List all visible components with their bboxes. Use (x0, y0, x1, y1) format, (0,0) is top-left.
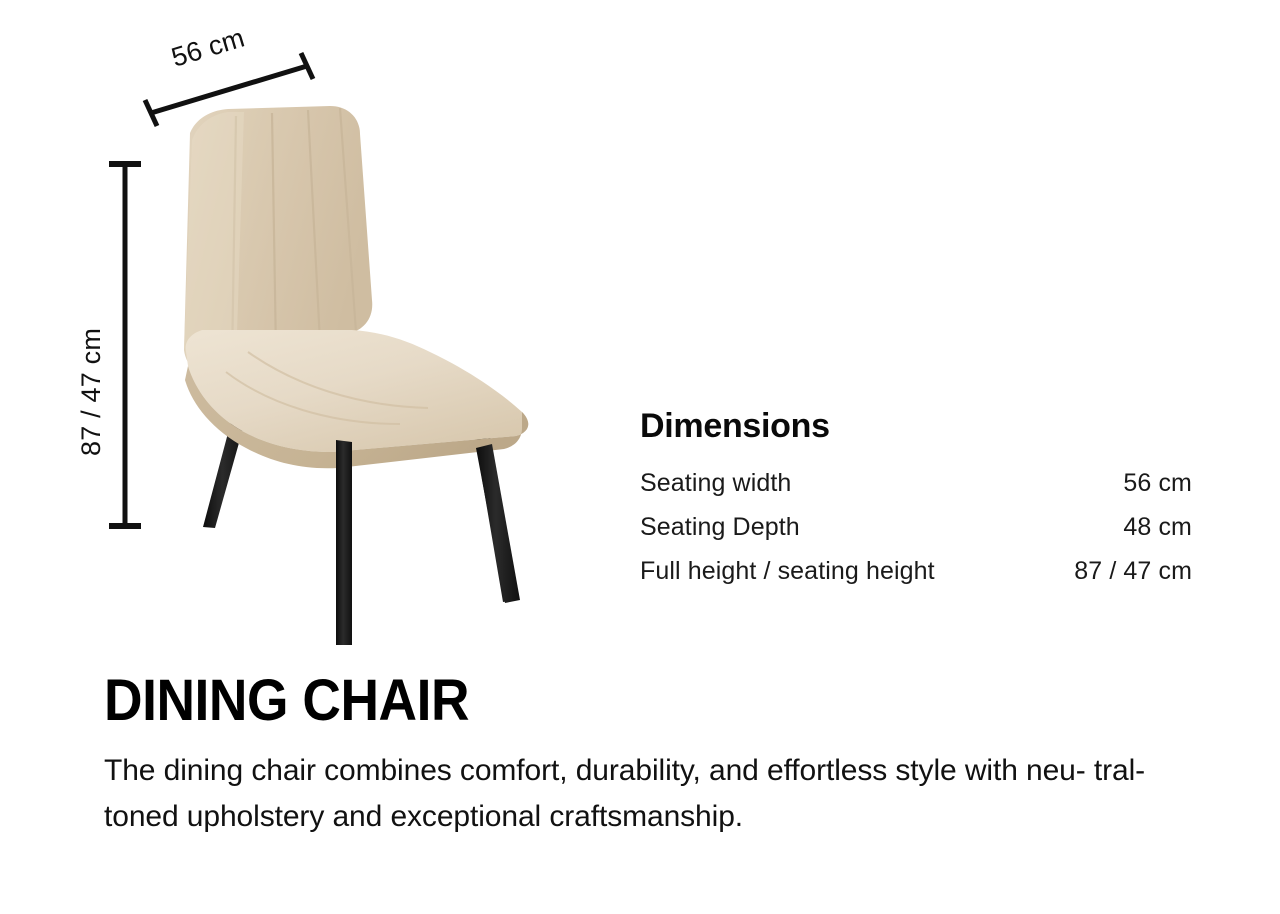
leg-front-left (336, 440, 352, 645)
table-row: Seating width 56 cm (640, 461, 1192, 505)
height-dimension-label: 87 / 47 cm (76, 328, 107, 456)
chair-illustration: 56 cm 87 / 47 cm (0, 0, 620, 680)
leg-front-right (476, 444, 520, 603)
product-description: The dining chair combines comfort, durab… (104, 748, 1194, 839)
spec-value: 48 cm (1034, 505, 1192, 549)
spec-label: Full height / seating height (640, 549, 1034, 593)
dimensions-panel: Dimensions Seating width 56 cm Seating D… (640, 408, 1192, 593)
spec-value: 56 cm (1034, 461, 1192, 505)
page-title: DINING CHAIR (104, 672, 469, 730)
chair-legs-front (336, 440, 520, 645)
dimensions-heading: Dimensions (640, 408, 1192, 445)
spec-label: Seating Depth (640, 505, 1034, 549)
height-dimension-line (109, 164, 141, 526)
spec-label: Seating width (640, 461, 1034, 505)
table-row: Seating Depth 48 cm (640, 505, 1192, 549)
product-spec-page: 56 cm 87 / 47 cm Dimensions Seating widt… (0, 0, 1280, 914)
table-row: Full height / seating height 87 / 47 cm (640, 549, 1192, 593)
spec-value: 87 / 47 cm (1034, 549, 1192, 593)
dimensions-table: Seating width 56 cm Seating Depth 48 cm … (640, 461, 1192, 593)
